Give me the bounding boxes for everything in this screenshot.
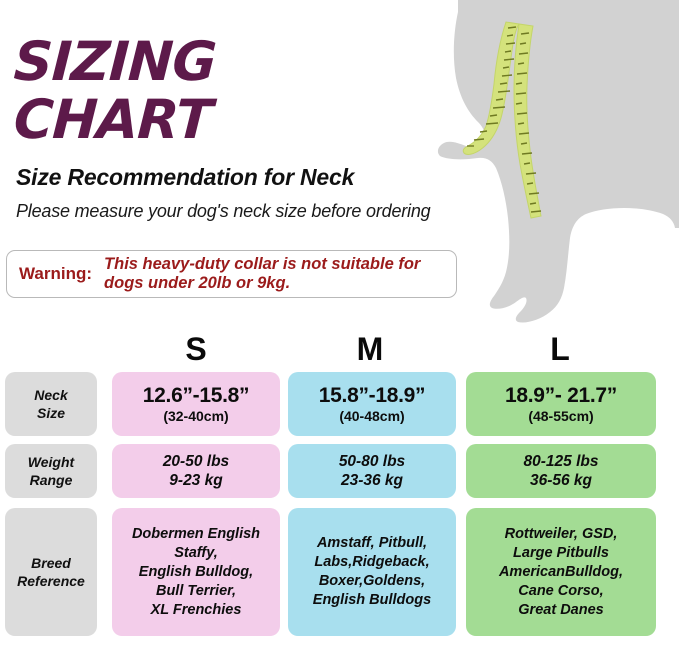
cell-weight-range-small: 20-50 lbs 9-23 kg: [112, 444, 280, 498]
neck-size-small-cm: (32-40cm): [163, 408, 228, 425]
warning-label: Warning:: [19, 264, 92, 284]
cell-breed-large: Rottweiler, GSD, Large Pitbulls American…: [466, 508, 656, 636]
breed-large-line-5: Great Danes: [518, 601, 603, 620]
row-label-line-1: Weight: [28, 453, 74, 471]
cell-neck-size-medium: 15.8”-18.9” (40-48cm): [288, 372, 456, 436]
breed-small-line-1: Dobermen English: [132, 525, 260, 544]
row-label-line-2: Reference: [17, 572, 85, 590]
row-label-line-1: Breed: [31, 554, 71, 572]
neck-size-large-cm: (48-55cm): [528, 408, 593, 425]
weight-small-lbs: 20-50 lbs: [163, 452, 229, 471]
row-label-breed-reference: Breed Reference: [5, 508, 97, 636]
table-row-breed-reference: Breed Reference Dobermen English Staffy,…: [0, 502, 679, 642]
cell-weight-range-medium: 50-80 lbs 23-36 kg: [288, 444, 456, 498]
breed-small-line-3: English Bulldog,: [139, 563, 253, 582]
row-label-line-2: Range: [30, 471, 73, 489]
breed-small-line-2: Staffy,: [174, 544, 218, 563]
page-title-line-2: CHART: [13, 92, 486, 148]
cell-breed-medium: Amstaff, Pitbull, Labs,Ridgeback, Boxer,…: [288, 508, 456, 636]
size-header-l: L: [530, 331, 590, 368]
breed-large-line-4: Cane Corso,: [518, 582, 603, 601]
neck-size-small-inches: 12.6”-15.8”: [143, 384, 249, 408]
subtitle: Size Recommendation for Neck: [16, 164, 484, 191]
page-title-line-1: SIZING: [13, 34, 486, 90]
cell-breed-small: Dobermen English Staffy, English Bulldog…: [112, 508, 280, 636]
neck-size-large-inches: 18.9”- 21.7”: [505, 384, 617, 408]
headline-block: SIZING CHART Size Recommendation for Nec…: [14, 34, 484, 222]
size-header-s: S: [166, 331, 226, 368]
breed-small-line-5: XL Frenchies: [151, 601, 242, 620]
instruction-text: Please measure your dog's neck size befo…: [16, 201, 484, 222]
table-row-neck-size: Neck Size 12.6”-15.8” (32-40cm) 15.8”-18…: [0, 368, 679, 440]
breed-large-line-3: AmericanBulldog,: [499, 563, 623, 582]
cell-neck-size-large: 18.9”- 21.7” (48-55cm): [466, 372, 656, 436]
neck-size-medium-inches: 15.8”-18.9”: [319, 384, 425, 408]
cell-neck-size-small: 12.6”-15.8” (32-40cm): [112, 372, 280, 436]
sizing-table: Neck Size 12.6”-15.8” (32-40cm) 15.8”-18…: [0, 368, 679, 642]
breed-large-line-1: Rottweiler, GSD,: [505, 525, 618, 544]
row-label-weight-range: Weight Range: [5, 444, 97, 498]
row-label-line-1: Neck: [34, 386, 67, 404]
warning-text: This heavy-duty collar is not suitable f…: [104, 255, 450, 293]
weight-small-kg: 9-23 kg: [169, 471, 222, 490]
neck-size-medium-cm: (40-48cm): [339, 408, 404, 425]
weight-medium-lbs: 50-80 lbs: [339, 452, 405, 471]
warning-box: Warning: This heavy-duty collar is not s…: [6, 250, 457, 298]
breed-medium-line-2: Labs,Ridgeback,: [314, 553, 429, 572]
breed-large-line-2: Large Pitbulls: [513, 544, 609, 563]
weight-medium-kg: 23-36 kg: [341, 471, 403, 490]
weight-large-lbs: 80-125 lbs: [524, 452, 599, 471]
size-header-m: M: [340, 331, 400, 368]
row-label-neck-size: Neck Size: [5, 372, 97, 436]
table-row-weight-range: Weight Range 20-50 lbs 9-23 kg 50-80 lbs…: [0, 440, 679, 502]
breed-small-line-4: Bull Terrier,: [156, 582, 236, 601]
row-label-line-2: Size: [37, 404, 65, 422]
weight-large-kg: 36-56 kg: [530, 471, 592, 490]
breed-medium-line-4: English Bulldogs: [313, 591, 431, 610]
size-header-row: S M L: [0, 331, 679, 365]
breed-medium-line-1: Amstaff, Pitbull,: [317, 534, 427, 553]
breed-medium-line-3: Boxer,Goldens,: [319, 572, 425, 591]
cell-weight-range-large: 80-125 lbs 36-56 kg: [466, 444, 656, 498]
